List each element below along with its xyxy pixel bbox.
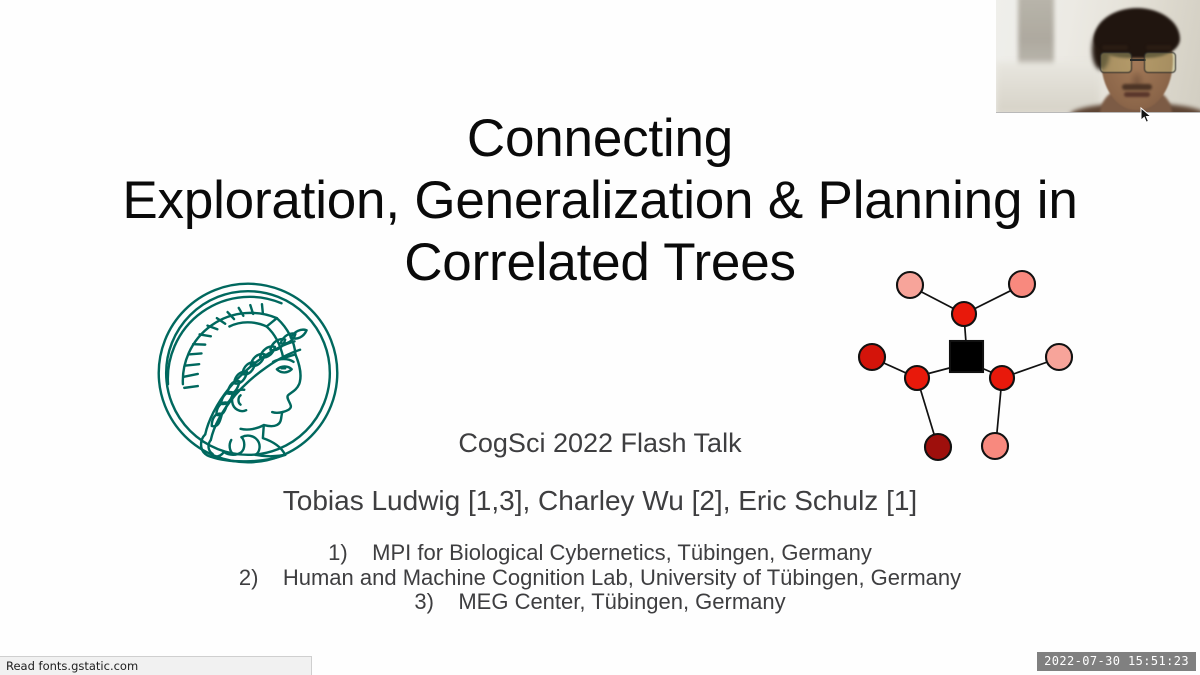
browser-status-bar: Read fonts.gstatic.com bbox=[0, 656, 312, 675]
recording-timestamp: 2022-07-30 15:51:23 bbox=[1037, 652, 1196, 671]
presenter-glasses bbox=[1100, 52, 1176, 72]
presenter-moustache bbox=[1122, 84, 1152, 90]
tree-node-leaf-right-down bbox=[982, 433, 1008, 459]
tree-node-top bbox=[952, 302, 976, 326]
affiliation-3: 3) MEG Center, Tübingen, Germany bbox=[0, 590, 1200, 615]
webcam-wall-panel bbox=[996, 62, 1100, 113]
glasses-lens-right bbox=[1144, 52, 1176, 73]
correlated-tree-diagram bbox=[845, 262, 1090, 467]
tree-node-leaf-right-outer bbox=[1046, 344, 1072, 370]
slide-affiliations: 1) MPI for Biological Cybernetics, Tübin… bbox=[0, 541, 1200, 615]
webcam-image bbox=[996, 0, 1200, 112]
screen-capture: Connecting Exploration, Generalization &… bbox=[0, 0, 1200, 675]
slide-authors: Tobias Ludwig [1,3], Charley Wu [2], Eri… bbox=[0, 484, 1200, 518]
presenter-eyebrow-right bbox=[1146, 45, 1172, 50]
tree-node-left bbox=[905, 366, 929, 390]
affiliation-1: 1) MPI for Biological Cybernetics, Tübin… bbox=[0, 541, 1200, 566]
tree-node-leaf-top-left bbox=[897, 272, 923, 298]
presenter-video-thumbnail[interactable] bbox=[996, 0, 1200, 113]
presenter-eyebrow-left bbox=[1102, 45, 1128, 50]
tree-node-leaf-left-down bbox=[925, 434, 951, 460]
slide-title-line-2: Exploration, Generalization & Planning i… bbox=[0, 170, 1200, 232]
tree-node-leaf-left-outer bbox=[859, 344, 885, 370]
tree-node-right bbox=[990, 366, 1014, 390]
glasses-lens-left bbox=[1100, 52, 1132, 73]
tree-node-leaf-top-right bbox=[1009, 271, 1035, 297]
status-bar-text: Read fonts.gstatic.com bbox=[6, 657, 138, 675]
tree-node-root bbox=[950, 341, 983, 372]
presenter-mouth bbox=[1124, 92, 1150, 97]
slide-title-line-1: Connecting bbox=[0, 108, 1200, 170]
affiliation-2: 2) Human and Machine Cognition Lab, Univ… bbox=[0, 566, 1200, 591]
max-planck-logo bbox=[155, 280, 341, 466]
